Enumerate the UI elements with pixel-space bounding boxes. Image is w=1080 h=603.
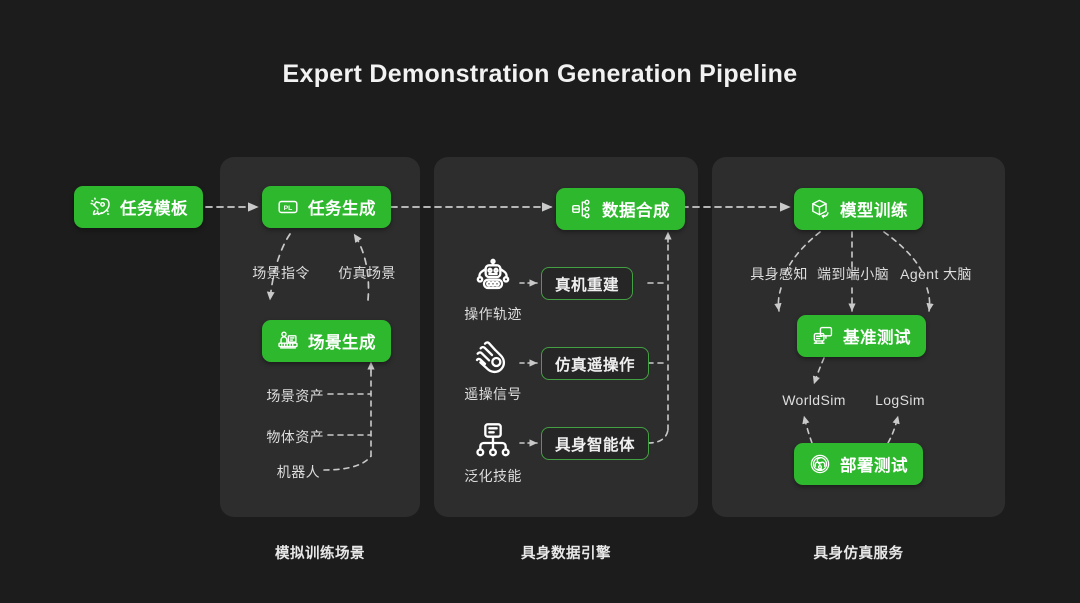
- node-scene-generation[interactable]: 场景生成: [262, 320, 391, 362]
- edge-label-scene-instruction: 场景指令: [238, 263, 324, 283]
- node-label: 部署测试: [840, 452, 908, 476]
- node-label: 基准测试: [843, 324, 911, 348]
- node-data-synthesis[interactable]: 数据合成: [556, 188, 685, 230]
- panel-caption-embodied-sim-service: 具身仿真服务: [712, 542, 1005, 563]
- rocket-icon: [89, 196, 111, 218]
- source-label-generalization-skill: 泛化技能: [453, 466, 533, 486]
- benchmark-screen-icon: [812, 325, 834, 347]
- node-label: 场景生成: [308, 329, 376, 353]
- node-label: 仿真遥操作: [555, 353, 635, 375]
- node-deployment-test[interactable]: 部署测试: [794, 443, 923, 485]
- source-label-teleop-signal: 遥操信号: [453, 384, 533, 404]
- agent-node-icon: [472, 420, 514, 460]
- node-label: 真机重建: [555, 273, 619, 295]
- cube-train-icon: [809, 198, 831, 220]
- scene-robot-icon: [277, 330, 299, 352]
- node-task-template[interactable]: 任务模板: [74, 186, 203, 228]
- node-real-machine-reconstruction[interactable]: 真机重建: [541, 267, 633, 300]
- node-label: 任务模板: [120, 195, 188, 219]
- input-label-object-assets: 物体资产: [258, 427, 324, 447]
- edge-label-end-to-end-cerebellum: 端到端小脑: [812, 264, 894, 284]
- node-embodied-agent[interactable]: 具身智能体: [541, 427, 649, 460]
- edge-label-logsim: LogSim: [861, 392, 939, 408]
- node-model-training[interactable]: 模型训练: [794, 188, 923, 230]
- robot-icon: [472, 258, 514, 298]
- deploy-seal-icon: [809, 453, 831, 475]
- source-label-operation-trajectory: 操作轨迹: [453, 304, 533, 324]
- pipeline-diagram: Expert Demonstration Generation Pipeline: [0, 0, 1080, 603]
- node-label: 具身智能体: [555, 433, 635, 455]
- page-title: Expert Demonstration Generation Pipeline: [0, 60, 1080, 89]
- panel-caption-embodied-data-engine: 具身数据引擎: [434, 542, 698, 563]
- edge-label-worldsim: WorldSim: [767, 392, 861, 408]
- edge-label-sim-scene: 仿真场景: [324, 263, 410, 283]
- edge-label-agent-brain: Agent 大脑: [890, 264, 982, 284]
- svg-text:PL: PL: [284, 205, 293, 212]
- edge-label-embodied-perception: 具身感知: [739, 264, 819, 284]
- input-label-robot: 机器人: [258, 462, 320, 482]
- node-label: 模型训练: [840, 197, 908, 221]
- data-synthesis-icon: [571, 198, 593, 220]
- node-sim-teleoperation[interactable]: 仿真遥操作: [541, 347, 649, 380]
- node-benchmark-test[interactable]: 基准测试: [797, 315, 926, 357]
- glove-icon: [472, 338, 514, 378]
- node-task-generation[interactable]: PL 任务生成: [262, 186, 391, 228]
- pl-badge-icon: PL: [277, 196, 299, 218]
- node-label: 数据合成: [602, 197, 670, 221]
- panel-caption-sim-training-scene: 模拟训练场景: [220, 542, 420, 563]
- input-label-scene-assets: 场景资产: [258, 386, 324, 406]
- node-label: 任务生成: [308, 195, 376, 219]
